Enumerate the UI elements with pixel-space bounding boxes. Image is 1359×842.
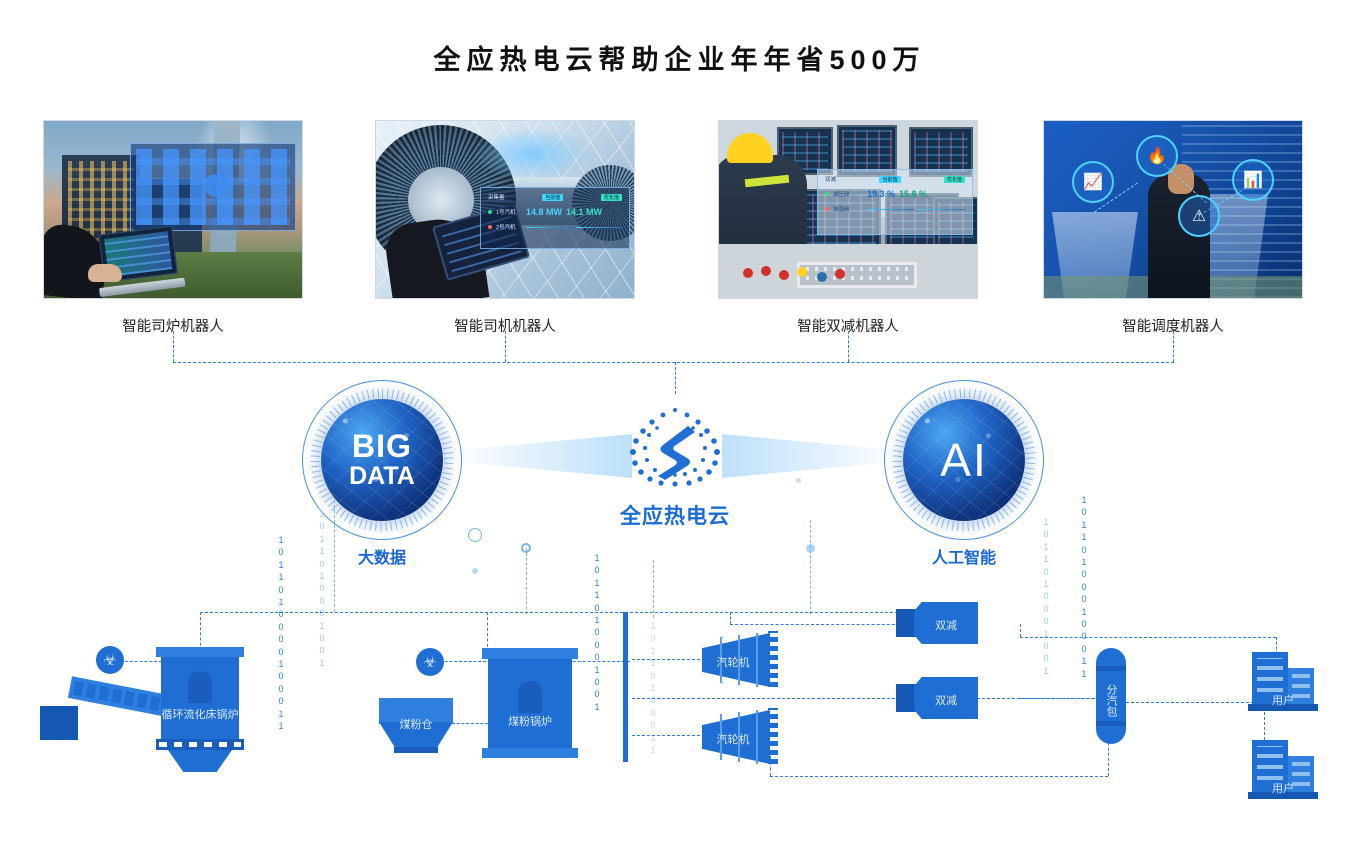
connector-header-to-turbine-1 xyxy=(632,659,710,660)
connector-robot-bus xyxy=(173,362,1174,363)
overlay-title-3: 双减 xyxy=(825,175,836,183)
overlay-row-label-2-1: 2号汽机 xyxy=(496,223,522,231)
reducer-1-body xyxy=(914,602,978,644)
infographic-page: 全应热电云帮助企业年年省500万 智能司炉机器人 xyxy=(0,0,1359,842)
status-dot-red xyxy=(488,225,492,229)
connector-turbine1-branch xyxy=(730,612,731,624)
overlay-row-value-right-3-0: 15.8 % xyxy=(899,189,927,199)
overlay-chip-optimized-2: 优化值 xyxy=(601,194,622,201)
thumbnail-image-turbine-operator: 采集量 当前值 优化值 1号汽机 14.8 MW 14.1 MW 2号汽机 xyxy=(375,120,635,299)
connector-robot-3 xyxy=(848,331,849,362)
decorative-ring xyxy=(468,528,482,542)
overlay-row-label-3-0: 减压阀 xyxy=(833,190,863,198)
connector-reducer1-drop xyxy=(1020,624,1021,637)
bigdata-line2: DATA xyxy=(349,462,415,491)
control-buttons xyxy=(739,258,889,292)
user-building-1: 用户 xyxy=(1252,652,1314,714)
user-building-2: 用户 xyxy=(1252,740,1314,802)
turbine-1-blades xyxy=(768,631,778,687)
connector-fire-icon-1 xyxy=(120,661,162,662)
binary-stream: 1 0 1 1 0 1 0 0 0 1 0 0 1 xyxy=(317,508,327,669)
pc-boiler-top xyxy=(482,648,578,659)
connector-bottom-bus xyxy=(770,776,1108,777)
binary-stream: 1 0 1 1 0 1 0 0 0 1 0 0 0 1 1 xyxy=(1079,494,1089,680)
overlay-row-value-left-2-0: 14.8 MW xyxy=(526,207,562,217)
thumbnail-image-boiler-operator xyxy=(43,120,303,299)
binary-stream: 1 0 1 1 0 1 0 0 0 1 0 0 1 xyxy=(592,552,602,713)
overlay-row-value-left-3-0: 19.3 % xyxy=(867,189,895,199)
furnace-opening-icon xyxy=(518,681,542,713)
cfb-grate xyxy=(156,739,244,750)
status-dot-green xyxy=(825,192,829,196)
flame-icon: ☣ xyxy=(416,648,444,676)
connector-silo-to-boiler xyxy=(452,723,488,724)
sparkline xyxy=(867,209,914,210)
connector-fire-icon-2 xyxy=(440,661,486,662)
pc-boiler-body xyxy=(488,659,572,748)
overlay-row-value-right-2-0: 14.1 MW xyxy=(566,207,602,217)
thumbnail-card-4[interactable]: 📈 🔥 ⚠ 📊 智能调度机器人 xyxy=(1043,120,1303,336)
ai-sphere: AI xyxy=(903,399,1025,521)
thumbnail-card-3[interactable]: 双减 当前值 优化值 减压阀 19.3 % 15.8 % 减温阀 智能 xyxy=(718,120,978,336)
bigdata-line1: BIG xyxy=(352,430,412,462)
cloud-s-logo-icon xyxy=(605,404,745,500)
coal-silo-top xyxy=(379,698,453,724)
turbine-2-blades xyxy=(768,708,778,764)
waveform-monitor-icon: 📊 xyxy=(1232,159,1274,201)
decorative-dot xyxy=(472,568,478,574)
cfb-ash-hopper xyxy=(168,750,232,772)
chart-search-icon: 📈 xyxy=(1072,161,1114,203)
ai-line1: AI xyxy=(940,437,987,483)
flame-monitor-icon: 🔥 xyxy=(1136,135,1178,177)
overlay-chip-current-3: 当前值 xyxy=(879,176,900,183)
sparkline xyxy=(526,227,572,228)
ai-node[interactable]: AI 人工智能 xyxy=(884,380,1044,540)
thumbnail-card-2[interactable]: 采集量 当前值 优化值 1号汽机 14.8 MW 14.1 MW 2号汽机 xyxy=(375,120,635,336)
overlay-chip-optimized-3: 优化值 xyxy=(944,176,965,183)
cloud-logo[interactable]: 全应热电云 xyxy=(605,404,745,500)
sparkline xyxy=(918,209,965,210)
coal-silo-cone xyxy=(379,722,453,748)
cfb-boiler-top xyxy=(156,647,244,657)
turbine-overlay-panel: 采集量 当前值 优化值 1号汽机 14.8 MW 14.1 MW 2号汽机 xyxy=(480,187,630,249)
furnace-opening-icon xyxy=(188,671,212,703)
cfb-boiler-body xyxy=(161,657,239,739)
laptop-icon xyxy=(93,225,186,297)
flame-icon: ☣ xyxy=(96,646,124,674)
alarm-icon: ⚠ xyxy=(1178,195,1220,237)
main-steam-header-bar xyxy=(623,612,628,762)
status-dot-green xyxy=(488,210,492,214)
connector-bus-to-cloud xyxy=(675,362,676,394)
connector-reducer2-to-drum xyxy=(1020,698,1094,699)
connector-cloud-down xyxy=(653,560,654,618)
steam-drum-body xyxy=(1096,648,1126,744)
connector-pc-boiler-up xyxy=(487,612,488,652)
binary-stream: 1 0 1 1 0 1 0 0 0 1 0 0 1 xyxy=(1041,516,1051,677)
reducer-2-body xyxy=(914,677,978,719)
connector-header-to-turbine-2 xyxy=(632,735,710,736)
cloud-label: 全应热电云 xyxy=(590,500,760,530)
connector-robot-1 xyxy=(173,331,174,362)
thumbnail-image-control-room: 双减 当前值 优化值 减压阀 19.3 % 15.8 % 减温阀 xyxy=(718,120,978,299)
status-dot-red xyxy=(825,207,829,211)
turbine-2 xyxy=(702,710,770,764)
hmi-overlay-panel xyxy=(130,143,296,231)
connector-robot-4 xyxy=(1173,331,1174,362)
coal-silo-base xyxy=(394,747,438,753)
connector-ai-down xyxy=(810,520,811,614)
overlay-row-label-2-0: 1号汽机 xyxy=(496,208,522,216)
connector-robot-2 xyxy=(505,331,506,362)
connector-plant-top-bus xyxy=(200,612,928,613)
reducer-overlay-panel: 双减 当前值 优化值 减压阀 19.3 % 15.8 % 减温阀 xyxy=(817,169,973,235)
sparkline xyxy=(576,227,622,228)
bigdata-sphere: BIG DATA xyxy=(321,399,443,521)
binary-stream: 1 0 1 1 0 1 0 0 0 0 1 0 0 0 1 1 xyxy=(276,534,286,733)
thumbnail-card-1[interactable]: 智能司炉机器人 xyxy=(43,120,303,336)
overlay-title-2: 采集量 xyxy=(488,193,505,201)
ai-label: 人工智能 xyxy=(884,544,1044,568)
connector-mid-down xyxy=(526,548,527,614)
thumbnail-image-dispatch: 📈 🔥 ⚠ 📊 xyxy=(1043,120,1303,299)
overlay-row-label-3-1: 减温阀 xyxy=(833,205,863,213)
conveyor-hopper xyxy=(40,706,78,740)
overlay-chip-current-2: 当前值 xyxy=(542,194,563,201)
connector-to-reducer-1 xyxy=(730,624,900,625)
decorative-dot xyxy=(796,478,801,483)
energy-beam-right xyxy=(722,434,902,478)
connector-drum-to-user-2 xyxy=(1126,702,1264,703)
turbine-1 xyxy=(702,633,770,687)
connector-drum-to-user-1 xyxy=(1020,637,1276,638)
page-title: 全应热电云帮助企业年年省500万 xyxy=(0,38,1359,77)
pc-boiler-base xyxy=(482,748,578,758)
connector-bigdata-down xyxy=(334,500,335,612)
